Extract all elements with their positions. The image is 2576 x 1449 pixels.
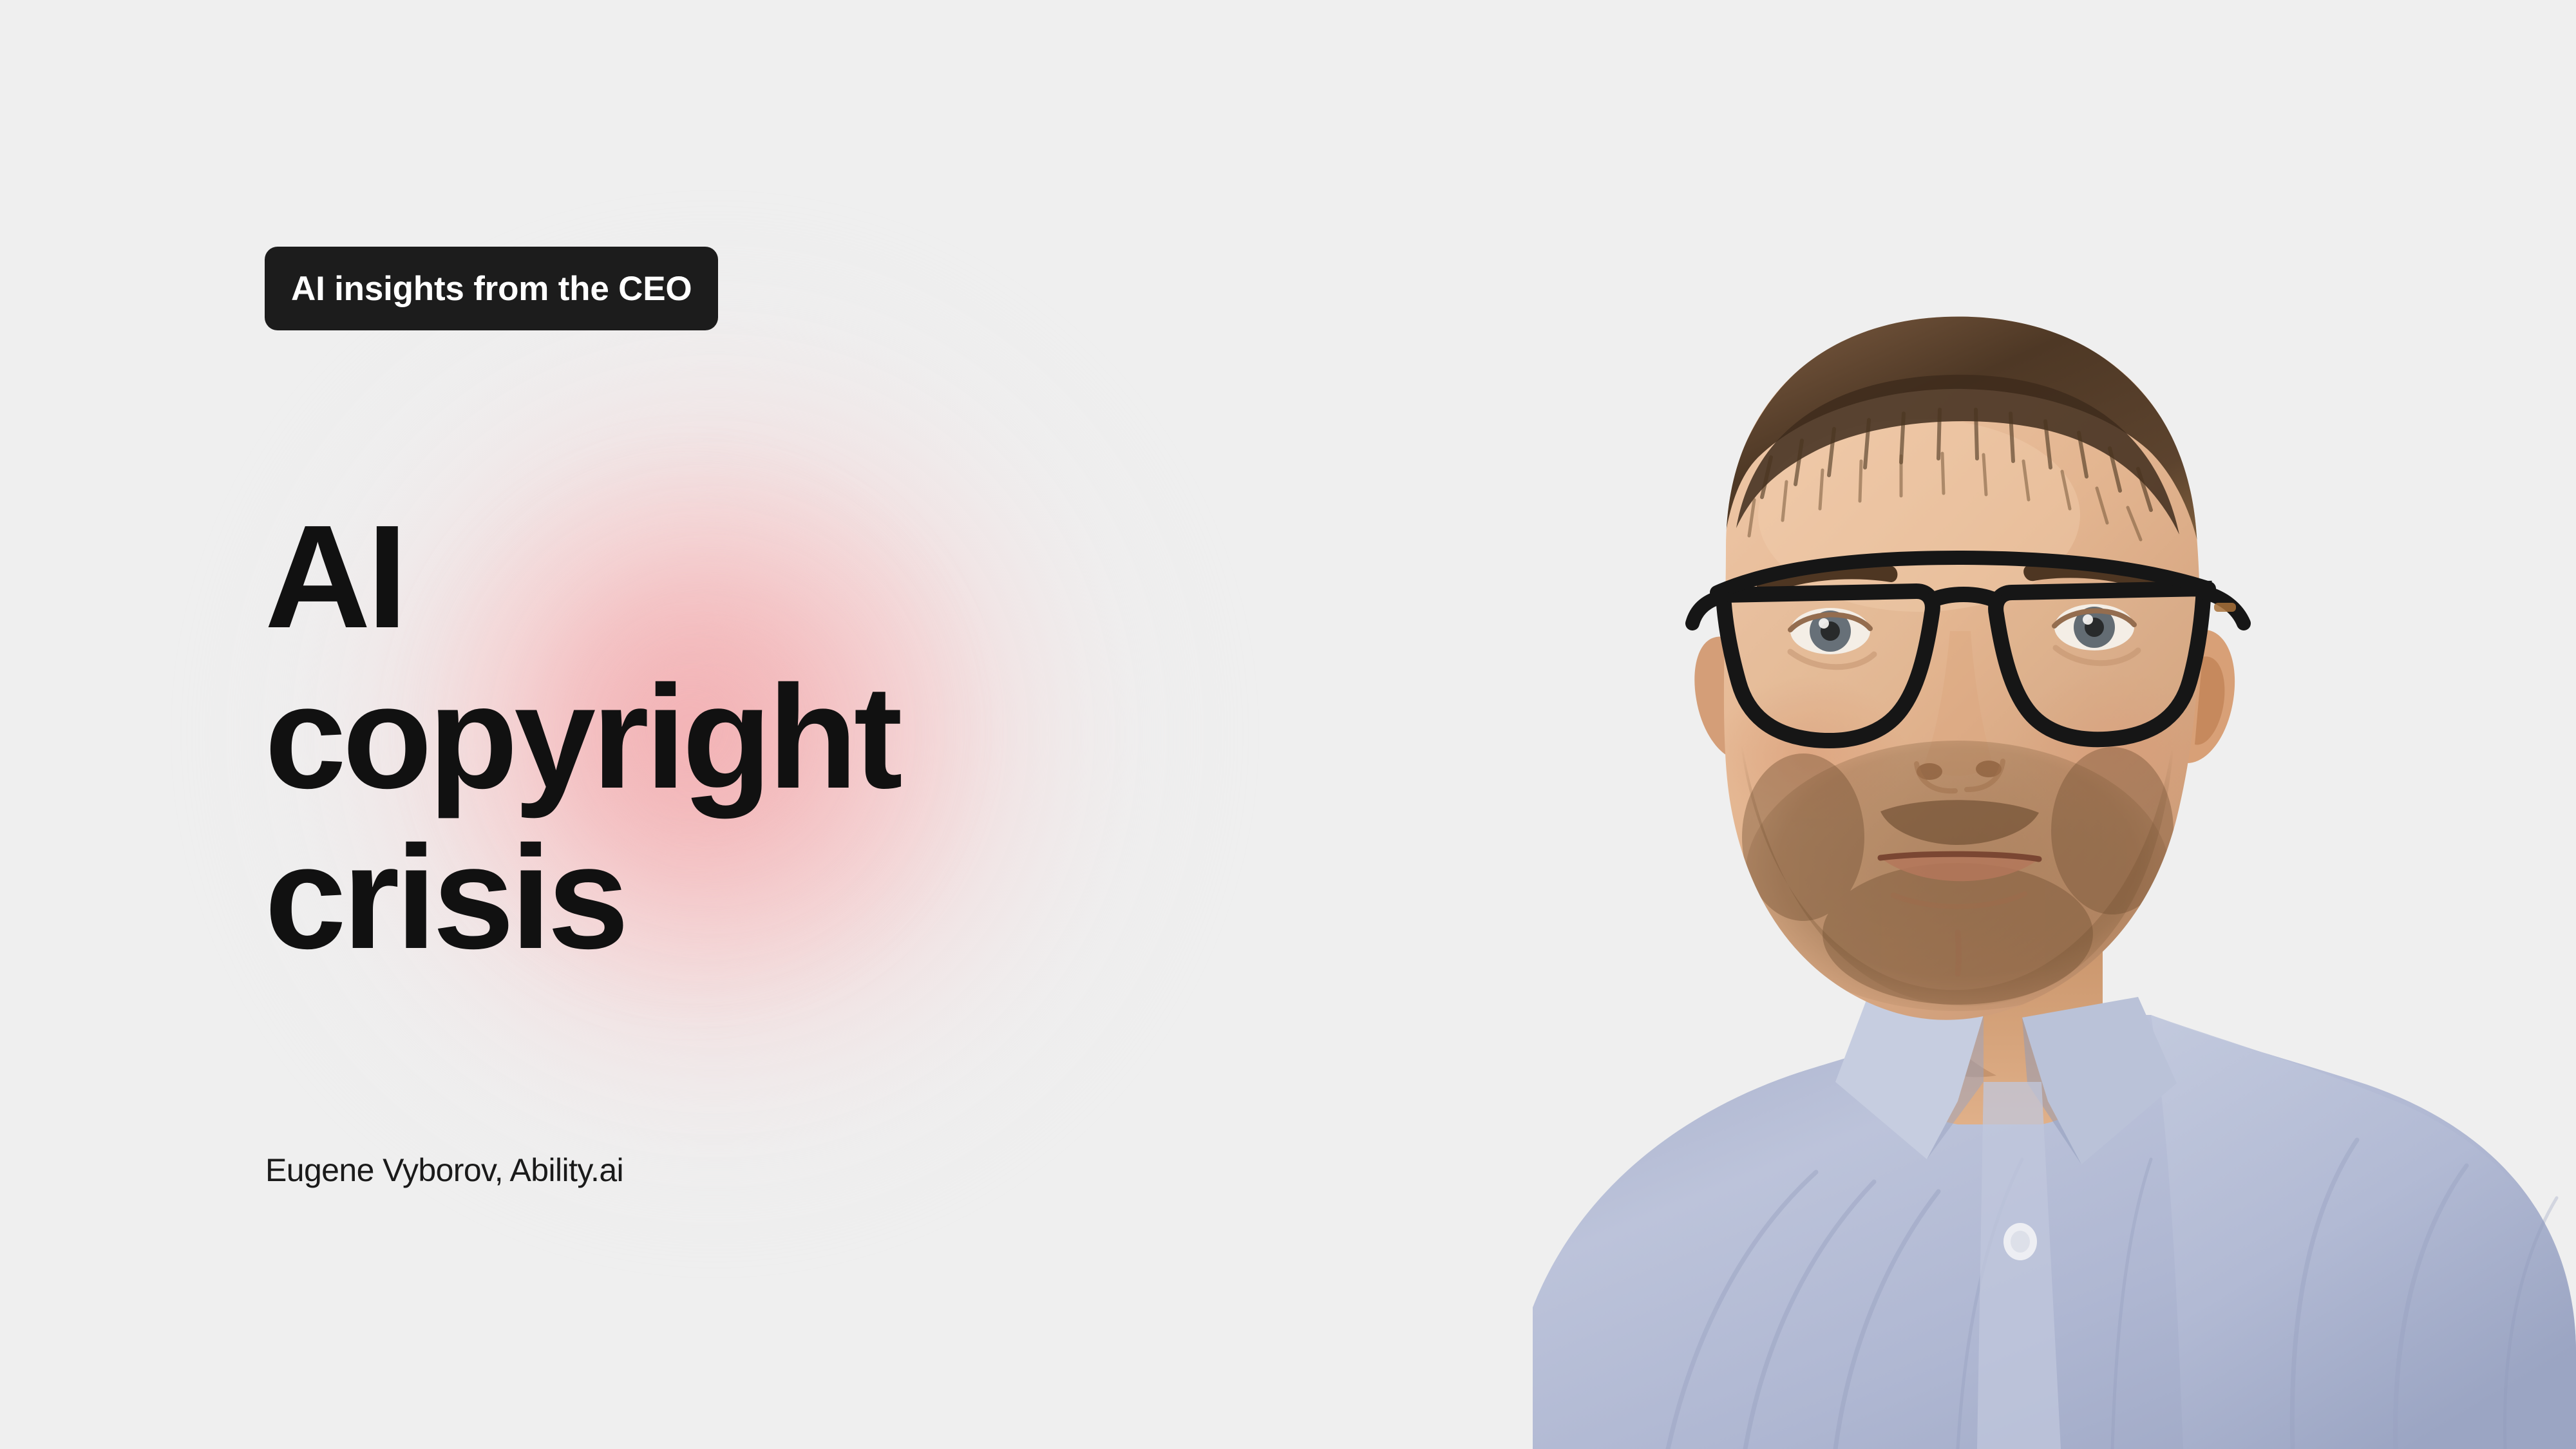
head [1692,314,2244,1020]
shirt-collar [1835,997,2177,1449]
shirt-button [2003,1223,2037,1260]
glasses-icon [1692,558,2244,741]
beard [1738,715,2175,1011]
mouth [1880,851,2039,907]
eyes [1790,604,2138,667]
speaker-portrait [1533,245,2576,1449]
speaker-byline: Eugene Vyborov, Ability.ai [265,1151,623,1189]
headline-line-1: AI [265,497,899,658]
eyebrow-badge: AI insights from the CEO [265,247,718,330]
page-title: AI copyright crisis [265,497,899,978]
neck [1893,914,2103,1124]
title-slide: AI insights from the CEO AI copyright cr… [0,0,2576,1449]
hair [1721,314,2202,580]
eyebrow-badge-label: AI insights from the CEO [291,272,692,306]
headline-line-2: copyright [265,658,899,818]
shirt [1533,1015,2576,1449]
text-column: AI insights from the CEO AI copyright cr… [265,0,1295,1449]
eyebrows [1757,558,2164,596]
headline-line-3: crisis [265,818,899,978]
nose [1917,631,2003,791]
